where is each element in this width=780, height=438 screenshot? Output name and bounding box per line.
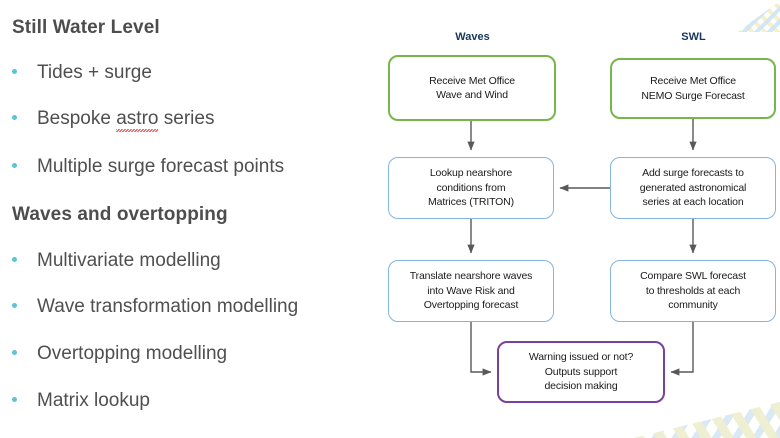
flow-node-line-1: Add surge forecasts to [642, 167, 744, 179]
flowchart-column-header-swl: SWL [611, 31, 776, 43]
flowchart-column-header-waves: Waves [390, 31, 555, 43]
flow-node-label: Receive Met Office NEMO Surge Forecast [635, 74, 750, 103]
flow-node-line-1: Receive Met Office [650, 75, 736, 87]
slide-canvas: Still Water Level Tides + surge Bespoke … [0, 0, 780, 438]
flow-node-line-3: decision making [544, 380, 617, 392]
flow-node-line-1: Warning issued or not? [529, 351, 633, 363]
flow-node-compare-swl-forecast[interactable]: Compare SWL forecast to thresholds at ea… [610, 260, 776, 322]
flow-node-label: Receive Met Office Wave and Wind [423, 74, 521, 103]
flow-node-add-surge-forecasts[interactable]: Add surge forecasts to generated astrono… [610, 157, 776, 219]
flow-node-line-3: Matrices (TRITON) [428, 196, 514, 208]
flow-node-line-3: Overtopping forecast [424, 299, 518, 311]
flow-node-line-2: into Wave Risk and [427, 285, 514, 297]
flow-node-line-3: series at each location [642, 196, 743, 208]
flow-node-line-2: Wave and Wind [436, 89, 508, 101]
flow-node-label: Add surge forecasts to generated astrono… [634, 166, 752, 209]
flow-node-line-1: Compare SWL forecast [640, 270, 746, 282]
flow-node-swl-met-office[interactable]: Receive Met Office NEMO Surge Forecast [610, 58, 776, 119]
flow-node-line-3: community [668, 299, 717, 311]
flow-node-line-2: to thresholds at each [646, 285, 740, 297]
flow-node-line-1: Translate nearshore waves [410, 270, 533, 282]
flow-node-translate-nearshore-waves[interactable]: Translate nearshore waves into Wave Risk… [388, 260, 554, 322]
flow-node-label: Lookup nearshore conditions from Matrice… [422, 166, 520, 209]
flow-node-line-2: conditions from [437, 182, 506, 194]
flow-node-line-2: generated astronomical [640, 182, 746, 194]
flow-node-line-1: Lookup nearshore [430, 167, 512, 179]
flow-node-label: Compare SWL forecast to thresholds at ea… [634, 269, 752, 312]
flow-node-waves-met-office[interactable]: Receive Met Office Wave and Wind [388, 55, 556, 121]
flow-node-label: Warning issued or not? Outputs support d… [523, 350, 639, 393]
flow-node-line-2: Outputs support [545, 366, 617, 378]
flow-node-label: Translate nearshore waves into Wave Risk… [404, 269, 539, 312]
flow-node-line-1: Receive Met Office [429, 75, 515, 87]
flow-node-warning-issued[interactable]: Warning issued or not? Outputs support d… [497, 341, 665, 403]
flowchart: Waves SWL Receive Met Office Wave and Wi… [0, 0, 780, 438]
flow-node-line-2: NEMO Surge Forecast [641, 90, 744, 102]
flow-node-lookup-nearshore[interactable]: Lookup nearshore conditions from Matrice… [388, 157, 554, 219]
